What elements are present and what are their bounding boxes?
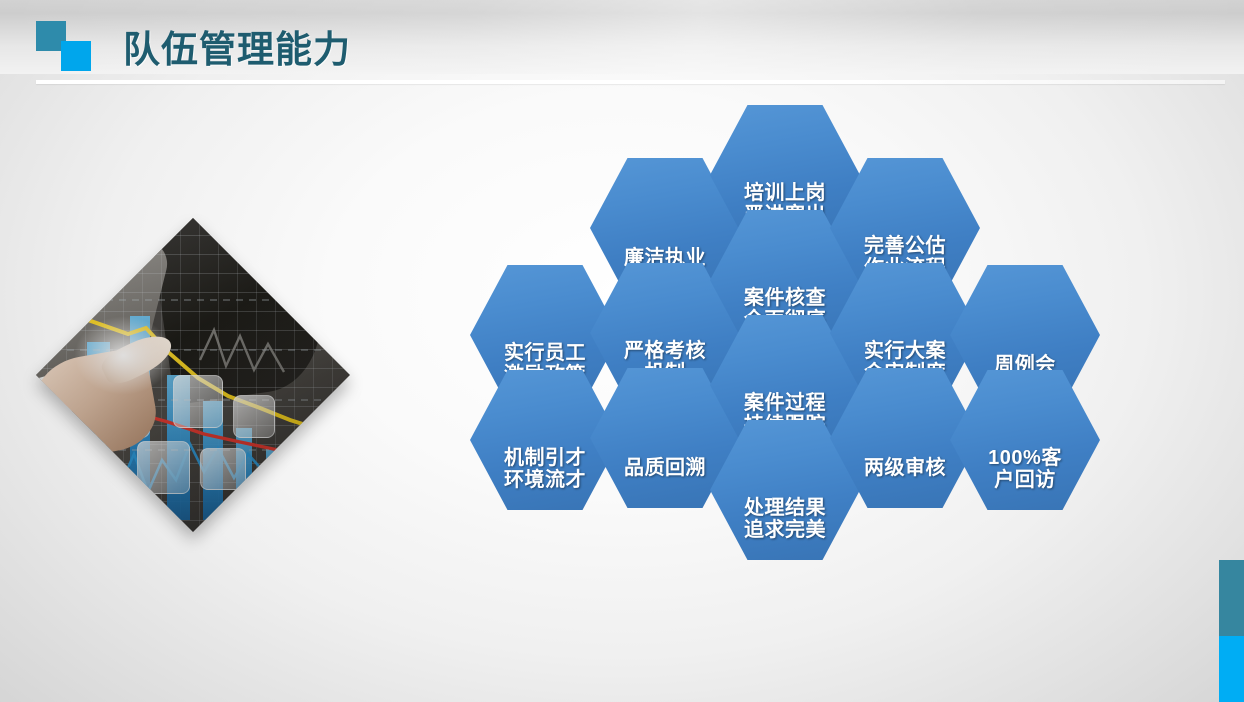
hexagon-label: 机制引才 环境流才 [504, 447, 586, 510]
hexagon-label: 品质回溯 [624, 457, 706, 508]
hexagon-label: 100%客 户回访 [988, 447, 1062, 510]
corner-accent-blue [1219, 636, 1244, 702]
hex-customer-revisit[interactable]: 100%客 户回访 [950, 370, 1100, 510]
slide-canvas: 队伍管理能力 [0, 0, 1244, 702]
hexagon-label: 两级审核 [864, 457, 946, 508]
corner-accent-teal [1219, 560, 1244, 636]
hexagon-label: 处理结果 追求完美 [744, 497, 826, 560]
hexagon-cluster: 实行员工 激励政策机制引才 环境流才廉洁执业严格考核 机制品质回溯培训上岗 严进… [0, 0, 1244, 702]
